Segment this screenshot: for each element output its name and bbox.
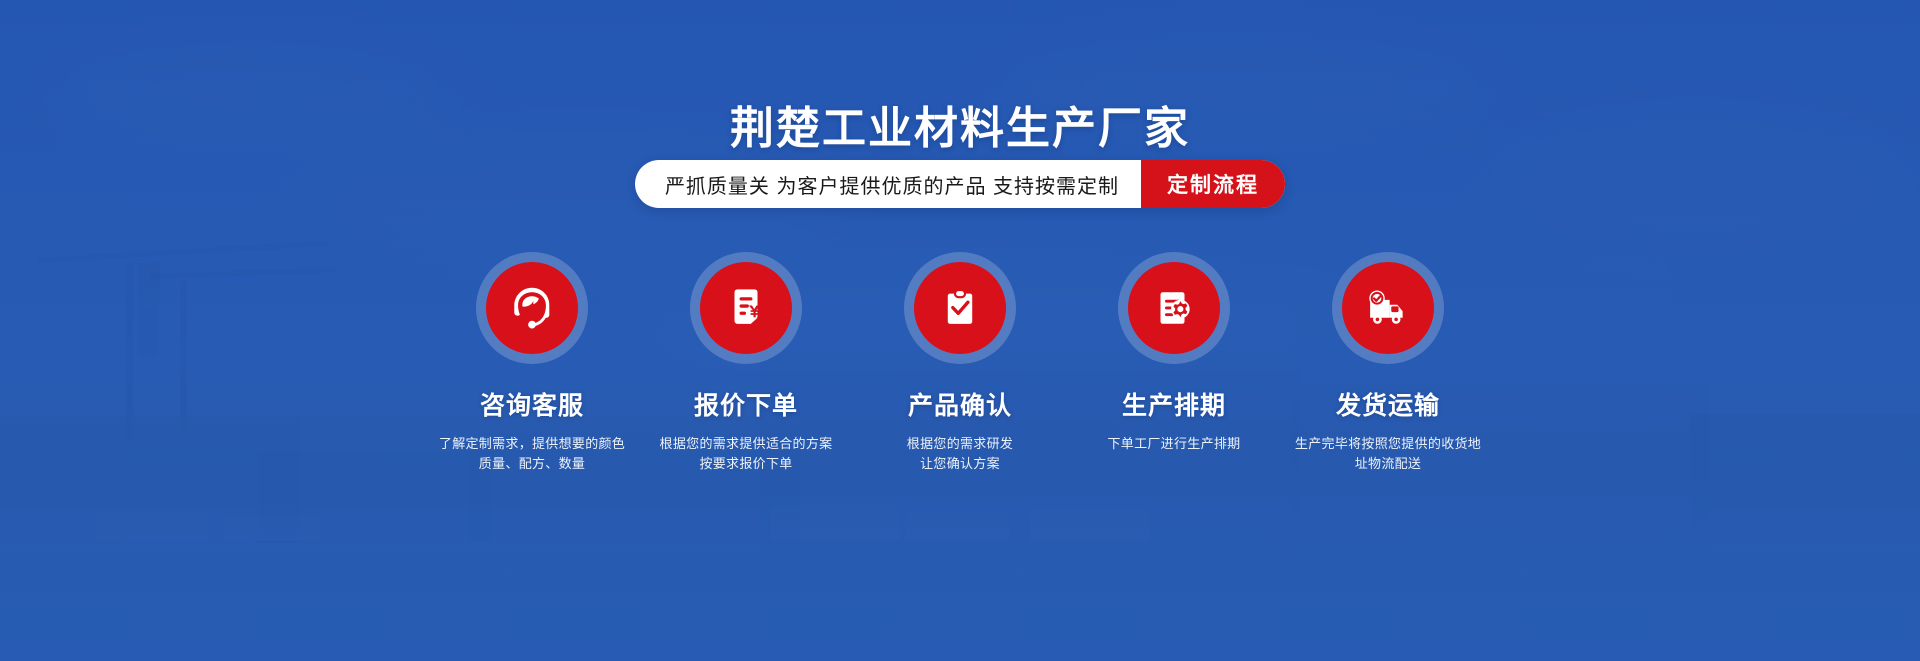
step-icon-ring: [904, 252, 1016, 364]
step-title: 咨询客服: [480, 386, 584, 422]
step-desc-line: 质量、配方、数量: [432, 454, 632, 474]
step-desc-line: 让您确认方案: [860, 454, 1060, 474]
step-item-delivery[interactable]: 发货运输 生产完毕将按照您提供的收货地 址物流配送: [1281, 252, 1495, 474]
step-desc-line: 下单工厂进行生产排期: [1074, 434, 1274, 454]
step-description: 根据您的需求提供适合的方案 按要求报价下单: [646, 434, 846, 474]
document-gear-icon: [1150, 284, 1198, 332]
slogan-bar: 严抓质量关 为客户提供优质的产品 支持按需定制 定制流程: [635, 160, 1285, 208]
step-title: 报价下单: [694, 386, 798, 422]
step-icon-ring: [1118, 252, 1230, 364]
step-icon-circle: [486, 262, 578, 354]
step-desc-line: 按要求报价下单: [646, 454, 846, 474]
step-item-consult[interactable]: 咨询客服 了解定制需求，提供想要的颜色 质量、配方、数量: [425, 252, 639, 474]
step-desc-line: 了解定制需求，提供想要的颜色: [432, 434, 632, 454]
step-icon-circle: [700, 262, 792, 354]
step-item-quote[interactable]: 报价下单 根据您的需求提供适合的方案 按要求报价下单: [639, 252, 853, 474]
step-description: 生产完毕将按照您提供的收货地 址物流配送: [1288, 434, 1488, 474]
step-title: 产品确认: [908, 386, 1012, 422]
step-desc-line: 根据您的需求研发: [860, 434, 1060, 454]
step-desc-line: 生产完毕将按照您提供的收货地: [1288, 434, 1488, 454]
step-item-confirm[interactable]: 产品确认 根据您的需求研发 让您确认方案: [853, 252, 1067, 474]
invoice-yuan-icon: [723, 285, 769, 331]
promo-banner: 荆楚工业材料生产厂家 严抓质量关 为客户提供优质的产品 支持按需定制 定制流程: [0, 0, 1920, 661]
process-steps: 咨询客服 了解定制需求，提供想要的颜色 质量、配方、数量: [0, 252, 1920, 474]
banner-content: 荆楚工业材料生产厂家 严抓质量关 为客户提供优质的产品 支持按需定制 定制流程: [0, 0, 1920, 661]
step-title: 生产排期: [1122, 386, 1226, 422]
slogan-bar-wrapper: 严抓质量关 为客户提供优质的产品 支持按需定制 定制流程: [0, 160, 1920, 208]
step-icon-circle: [1342, 262, 1434, 354]
step-desc-line: 址物流配送: [1288, 454, 1488, 474]
slogan-text: 严抓质量关 为客户提供优质的产品 支持按需定制: [635, 160, 1141, 208]
step-desc-line: 根据您的需求提供适合的方案: [646, 434, 846, 454]
step-item-schedule[interactable]: 生产排期 下单工厂进行生产排期: [1067, 252, 1281, 454]
step-icon-circle: [1128, 262, 1220, 354]
headset-support-icon: [505, 281, 559, 335]
step-icon-ring: [690, 252, 802, 364]
delivery-truck-check-icon: [1362, 282, 1414, 334]
step-description: 下单工厂进行生产排期: [1074, 434, 1274, 454]
page-title: 荆楚工业材料生产厂家: [0, 92, 1920, 156]
custom-process-button[interactable]: 定制流程: [1141, 160, 1285, 208]
step-description: 根据您的需求研发 让您确认方案: [860, 434, 1060, 474]
step-title: 发货运输: [1336, 386, 1440, 422]
step-icon-ring: [1332, 252, 1444, 364]
step-icon-ring: [476, 252, 588, 364]
step-description: 了解定制需求，提供想要的颜色 质量、配方、数量: [432, 434, 632, 474]
clipboard-check-icon: [937, 285, 983, 331]
step-icon-circle: [914, 262, 1006, 354]
